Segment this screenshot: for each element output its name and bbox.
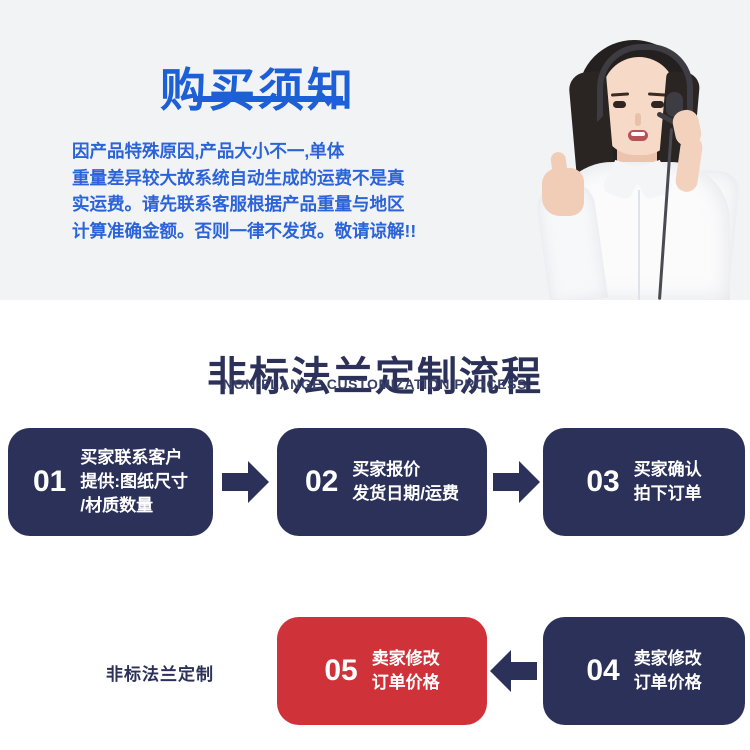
process-step-01[interactable]: 01 买家联系客户 提供:图纸尺寸 /材质数量 bbox=[8, 428, 213, 536]
step-number-01: 01 bbox=[33, 467, 66, 497]
step-01-line-1: 买家联系客户 bbox=[80, 448, 182, 467]
bottom-caption: 非标法兰定制 bbox=[60, 660, 260, 685]
process-step-05[interactable]: 05 卖家修改 订单价格 bbox=[277, 617, 487, 725]
step-number-04: 04 bbox=[586, 656, 619, 686]
notice-body: 因产品特殊原因,产品大小不一,单体 重量差异较大故系统自动生成的运费不是真 实运… bbox=[72, 138, 492, 244]
step-04-line-2: 订单价格 bbox=[634, 673, 702, 692]
process-step-02[interactable]: 02 买家报价 发货日期/运费 bbox=[277, 428, 487, 536]
notice-line-3: 实运费。请先联系客服根据产品重量与地区 bbox=[72, 191, 492, 218]
step-label-01: 买家联系客户 提供:图纸尺寸 /材质数量 bbox=[80, 446, 188, 518]
step-01-line-2: 提供:图纸尺寸 bbox=[80, 472, 188, 491]
notice-line-2: 重量差异较大故系统自动生成的运费不是真 bbox=[72, 165, 492, 192]
process-step-04[interactable]: 04 卖家修改 订单价格 bbox=[543, 617, 745, 725]
arrow-left-icon-1 bbox=[490, 649, 538, 693]
process-flow-diagram: 01 买家联系客户 提供:图纸尺寸 /材质数量 02 买家报价 发货日期/运费 bbox=[0, 300, 750, 750]
step-05-line-2: 订单价格 bbox=[372, 673, 440, 692]
arrow-right-icon-2 bbox=[493, 460, 541, 504]
step-number-05: 05 bbox=[324, 656, 357, 686]
step-number-02: 02 bbox=[305, 467, 338, 497]
promo-page: 购买须知 因产品特殊原因,产品大小不一,单体 重量差异较大故系统自动生成的运费不… bbox=[0, 0, 750, 750]
step-label-04: 卖家修改 订单价格 bbox=[634, 647, 702, 695]
step-02-line-2: 发货日期/运费 bbox=[352, 484, 459, 503]
page-title: 购买须知 bbox=[160, 67, 356, 113]
agent-teeth bbox=[631, 132, 645, 136]
step-label-03: 买家确认 拍下订单 bbox=[634, 458, 702, 506]
title-underline bbox=[193, 96, 343, 102]
customization-process-section: 非标法兰定制流程 NON-FLANGE CUSTOMIZATION PROCES… bbox=[0, 300, 750, 750]
step-01-line-3: /材质数量 bbox=[80, 496, 153, 515]
agent-shirt-placket bbox=[638, 190, 640, 300]
step-label-02: 买家报价 发货日期/运费 bbox=[352, 458, 459, 506]
purchase-notice-section: 购买须知 因产品特殊原因,产品大小不一,单体 重量差异较大故系统自动生成的运费不… bbox=[0, 0, 750, 300]
step-04-line-1: 卖家修改 bbox=[634, 649, 702, 668]
step-label-05: 卖家修改 订单价格 bbox=[372, 647, 440, 695]
step-02-line-1: 买家报价 bbox=[352, 460, 420, 479]
step-03-line-2: 拍下订单 bbox=[634, 484, 702, 503]
step-03-line-1: 买家确认 bbox=[634, 460, 702, 479]
customer-service-agent-photo bbox=[480, 0, 750, 300]
notice-line-1: 因产品特殊原因,产品大小不一,单体 bbox=[72, 138, 492, 165]
step-05-line-1: 卖家修改 bbox=[372, 649, 440, 668]
arrow-right-icon-1 bbox=[222, 460, 270, 504]
process-step-03[interactable]: 03 买家确认 拍下订单 bbox=[543, 428, 745, 536]
notice-line-4: 计算准确金额。否则一律不发货。敬请谅解!! bbox=[72, 218, 492, 245]
step-number-03: 03 bbox=[586, 467, 619, 497]
